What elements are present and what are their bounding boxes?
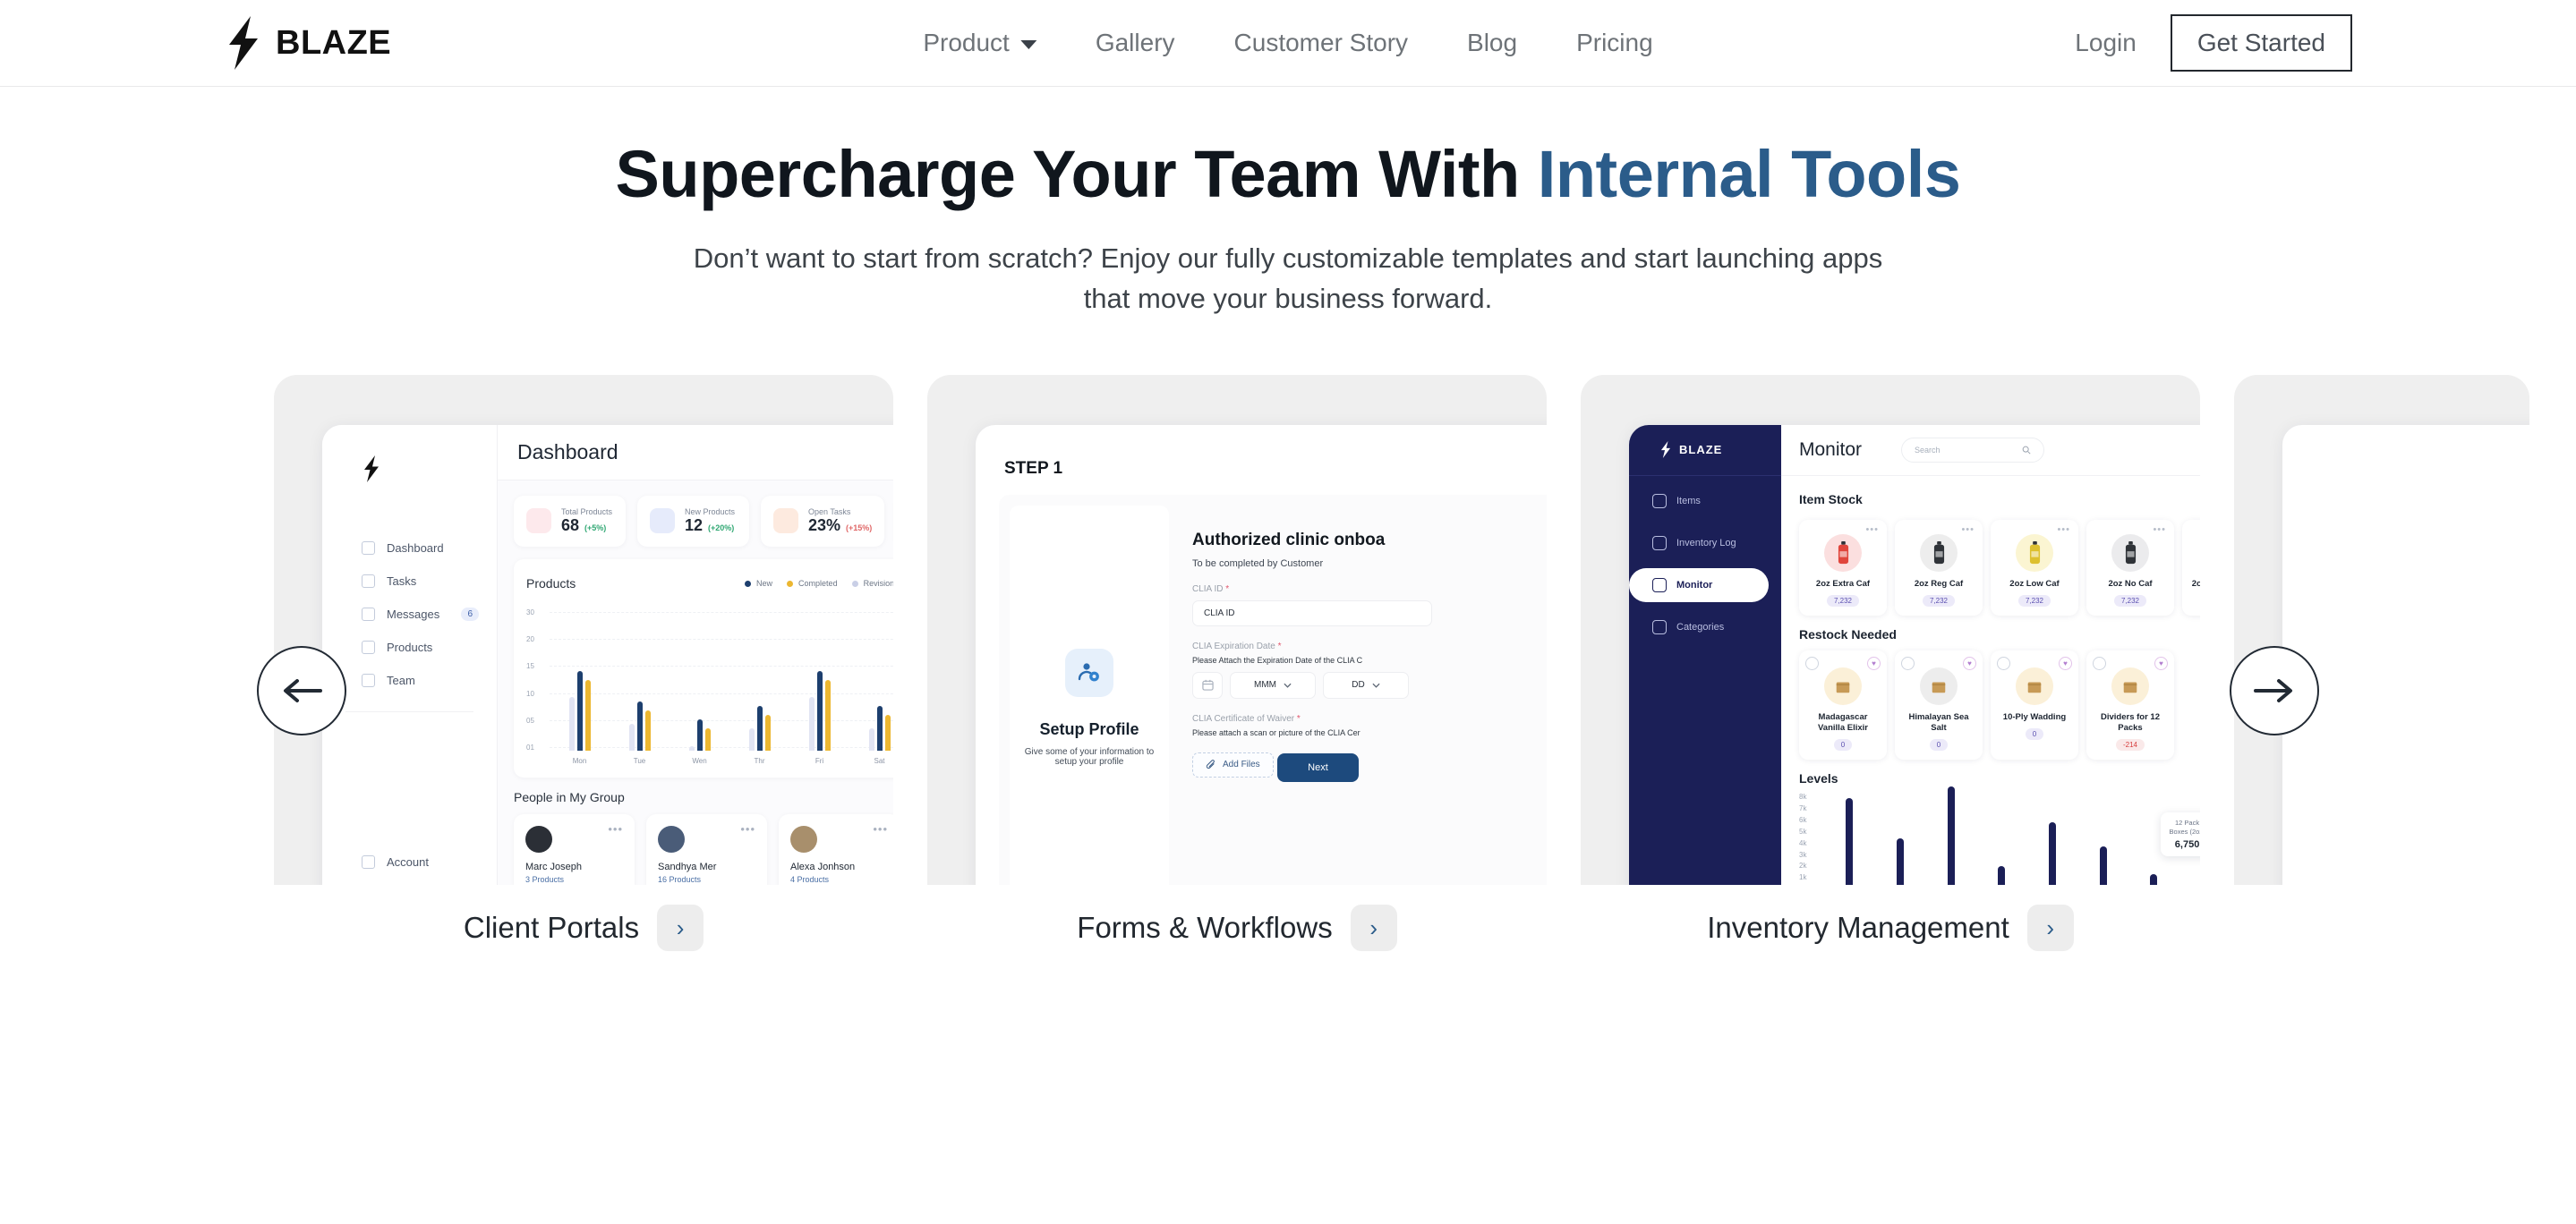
restock-card-row: ♥Madagascar Vanilla Elixir0♥Himalayan Se…: [1799, 650, 2200, 760]
categories-icon: [1652, 620, 1667, 634]
dashboard-main: Dashboard Download Total Products: [498, 425, 893, 885]
item-quantity: 0: [1930, 739, 1948, 751]
profile-setup-icon: [1065, 649, 1113, 697]
bar-group: [550, 608, 610, 751]
nav-item-product-label: Product: [923, 29, 1010, 57]
items-icon: [1652, 494, 1667, 508]
box-icon: [650, 508, 675, 533]
bar: [2150, 874, 2157, 885]
template-carousel: Dashboard Tasks Messages 6: [0, 375, 2576, 983]
x-tick-label: Mon: [550, 757, 610, 765]
bar: [705, 728, 711, 751]
favorite-icon[interactable]: ♥: [1867, 657, 1881, 670]
bar: [749, 728, 755, 751]
bottle-icon: [2028, 541, 2042, 565]
nav-item-gallery[interactable]: Gallery: [1066, 29, 1205, 57]
tooltip-value: 6,750: [2170, 839, 2200, 850]
item-name: 2oz No Caf: [2092, 579, 2169, 590]
item-name: 10-Ply Wadding: [1996, 712, 2073, 723]
chevron-down-icon: [1284, 683, 1292, 688]
bar-group: [1976, 795, 2027, 885]
inventory-main: Monitor Search Item Stock: [1781, 425, 2200, 885]
item-image: [1824, 534, 1862, 572]
stat-delta: (+20%): [708, 523, 734, 532]
legend-item-new: New: [745, 579, 772, 588]
sidebar-item-logout[interactable]: Logout: [322, 879, 497, 885]
sidebar-item-label: Dashboard: [387, 541, 444, 555]
bar: [765, 715, 771, 751]
bar: [869, 728, 874, 751]
item-stock-card[interactable]: •••2oz Extra Caf7,232: [1799, 520, 1887, 616]
sidebar-item-messages[interactable]: Messages 6: [322, 598, 497, 631]
item-quantity: 0: [2026, 728, 2043, 740]
arrow-right-icon: [2254, 676, 2295, 705]
package-icon: [2121, 677, 2139, 695]
monitor-icon: [1652, 578, 1667, 592]
person-card[interactable]: ••• Alexa Jonhson 4 Products 12 Tasks: [779, 814, 893, 885]
item-image: [2016, 534, 2053, 572]
bar: [825, 680, 831, 751]
inventory-brand: BLAZE: [1629, 425, 1781, 476]
item-image: [1920, 534, 1958, 572]
sidebar-item-label: Messages: [387, 608, 439, 621]
stat-label: New Products: [685, 507, 735, 516]
item-stock-card[interactable]: •••2oz No Caf7,232: [2086, 520, 2174, 616]
item-stock-section: Item Stock 2oz Bottles •••2oz Extra Caf7…: [1781, 476, 2200, 616]
bar-group-container: [550, 608, 893, 751]
levels-bar-chart: 8k7k6k5k4k3k2k1k0-1kVLINED-9732oz ExtraC…: [1799, 795, 2200, 885]
hero-section: Supercharge Your Team With Internal Tool…: [0, 87, 2576, 319]
messages-badge: 6: [461, 608, 479, 621]
sidebar-item-dashboard[interactable]: Dashboard: [322, 531, 497, 565]
log-icon: [1652, 536, 1667, 550]
carousel-prev-button[interactable]: [257, 646, 346, 735]
package-icon: [1930, 677, 1948, 695]
y-tick-label: 5k: [1799, 828, 1806, 836]
people-section: People in My Group ••• Marc Joseph 3 Pro…: [498, 778, 893, 885]
legend-item-revision: Revision: [852, 579, 893, 588]
carousel-card-client-portals[interactable]: Dashboard Tasks Messages 6: [274, 375, 893, 983]
bar: [817, 671, 823, 751]
package-icon: [2026, 677, 2043, 695]
item-name: 2oz Reg Caf: [1900, 579, 1977, 590]
search-placeholder: Search: [1915, 446, 1941, 455]
sidebar-divider: [345, 711, 473, 712]
setup-profile-title: Setup Profile: [1039, 720, 1139, 739]
more-options-icon[interactable]: •••: [873, 826, 888, 833]
card-caption: Client Portals ›: [274, 905, 893, 951]
people-row: ••• Marc Joseph 3 Products 10 Tasks •••: [514, 814, 893, 885]
person-products: 3 Products: [525, 875, 623, 884]
chart-legend: New Completed Revision: [745, 579, 893, 588]
bar: [2049, 822, 2056, 885]
card-caption: Inventory Management ›: [1581, 905, 2200, 951]
bottle-icon: [1932, 541, 1946, 565]
screenshot-inventory: BLAZE Items Inventory Log Monitor Catego…: [1581, 375, 2200, 885]
file-icon: [526, 508, 551, 533]
item-stock-card[interactable]: •••2oz Delta Bottles7,232: [2182, 520, 2200, 616]
legend-item-completed: Completed: [787, 579, 838, 588]
clipboard-icon: [773, 508, 798, 533]
inventory-sidebar: BLAZE Items Inventory Log Monitor Catego…: [1629, 425, 1781, 885]
y-tick-label: 7k: [1799, 804, 1806, 812]
item-stock-card[interactable]: •••2oz Low Caf7,232: [1991, 520, 2078, 616]
dashboard-sidebar: Dashboard Tasks Messages 6: [322, 425, 498, 885]
more-options-icon[interactable]: •••: [1900, 528, 1977, 533]
item-quantity: 7,232: [1923, 595, 1955, 607]
user-gear-icon: [1076, 659, 1103, 686]
bar-group: [2027, 795, 2078, 885]
search-icon: [2022, 446, 2031, 455]
nav-item-pricing[interactable]: Pricing: [1547, 29, 1683, 57]
bar: [569, 697, 575, 751]
field-label-clia-waiver: CLIA Certificate of Waiver *: [1192, 714, 1547, 724]
paperclip-icon: [1206, 760, 1216, 770]
form-panel: Setup Profile Give some of your informat…: [999, 495, 1547, 885]
dashboard-body: Products New Completed Revision Export: [498, 547, 893, 778]
hero-subtitle: Don’t want to start from scratch? Enjoy …: [0, 239, 2576, 319]
y-tick-label: 8k: [1799, 793, 1806, 801]
bar: [629, 724, 635, 751]
item-stock-card-row: •••2oz Extra Caf7,232•••2oz Reg Caf7,232…: [1799, 520, 2200, 616]
get-started-button[interactable]: Get Started: [2171, 14, 2352, 72]
sidebar-item-tasks[interactable]: Tasks: [322, 565, 497, 598]
more-options-icon[interactable]: •••: [2092, 528, 2169, 533]
arrow-left-icon: [281, 676, 322, 705]
x-tick-label: Fri: [789, 757, 849, 765]
inventory-app: BLAZE Items Inventory Log Monitor Catego…: [1629, 425, 2200, 885]
sidebar-item-categories[interactable]: Categories: [1629, 610, 1781, 644]
bar-group: [1875, 795, 1926, 885]
lightning-bolt-icon: [1659, 441, 1672, 458]
card-caption: Forms & Workflows ›: [927, 905, 1547, 951]
restock-card[interactable]: ♥Madagascar Vanilla Elixir0: [1799, 650, 1887, 760]
form-left-pane: Setup Profile Give some of your informat…: [1010, 506, 1169, 885]
item-name: 2oz Delta Bottles: [2188, 579, 2200, 590]
restock-section: Restock Needed ♥Madagascar Vanilla Elixi…: [1781, 616, 2200, 760]
person-name: Alexa Jonhson: [790, 862, 888, 872]
sidebar-item-account[interactable]: Account: [322, 846, 497, 879]
stat-label: Open Tasks: [808, 507, 872, 516]
primary-nav: Product Gallery Customer Story Blog Pric…: [893, 29, 1682, 57]
calendar-icon: [1202, 679, 1214, 691]
nav-item-product[interactable]: Product: [893, 29, 1066, 57]
chart-tooltip: 12 PackBoxes (2oz)6,750: [2161, 812, 2200, 856]
bottle-icon: [2124, 541, 2137, 565]
required-asterisk: *: [1278, 642, 1282, 651]
y-tick-label: 30: [526, 608, 534, 616]
stat-delta: (+15%): [846, 523, 872, 532]
item-quantity: 7,232: [1827, 595, 1859, 607]
header-actions: Login Get Started: [2041, 14, 2352, 72]
bar: [1846, 798, 1853, 885]
item-quantity: -214: [2116, 739, 2145, 751]
nav-item-blog[interactable]: Blog: [1437, 29, 1547, 57]
bar: [2100, 846, 2107, 885]
inventory-brand-text: BLAZE: [1679, 443, 1722, 456]
y-tick-label: 05: [526, 717, 534, 725]
dashboard-app: Dashboard Tasks Messages 6: [322, 425, 893, 885]
peek-app: [2282, 425, 2529, 885]
chart-title: Products: [526, 576, 576, 591]
item-image: [1824, 667, 1862, 705]
package-icon: [1834, 677, 1852, 695]
y-tick-label: 1k: [1799, 873, 1806, 881]
person-name: Marc Joseph: [525, 862, 623, 872]
favorite-icon[interactable]: ♥: [2059, 657, 2072, 670]
person-card[interactable]: ••• Sandhya Mer 16 Products 23 Tasks: [646, 814, 767, 885]
x-tick-label: Thr: [729, 757, 789, 765]
bar: [637, 701, 643, 751]
tasks-icon: [362, 574, 375, 588]
card-caption-label: Forms & Workflows: [1077, 911, 1332, 945]
lightning-bolt-icon: [362, 455, 381, 482]
item-quantity: 7,232: [2018, 595, 2051, 607]
nav-item-customer-story[interactable]: Customer Story: [1205, 29, 1438, 57]
required-asterisk: *: [1297, 714, 1301, 724]
sidebar-item-team[interactable]: Team: [322, 664, 497, 697]
products-icon: [362, 641, 375, 654]
levels-title: Levels: [1799, 771, 2200, 786]
brand-logo[interactable]: BLAZE: [224, 16, 391, 70]
edit-icon[interactable]: [1901, 657, 1915, 670]
item-name: 2oz Extra Caf: [1804, 579, 1881, 590]
person-products: 4 Products: [790, 875, 888, 884]
sidebar-item-label: Account: [387, 855, 429, 869]
item-image: [2111, 534, 2149, 572]
more-options-icon[interactable]: •••: [1804, 528, 1881, 533]
products-bar-chart: 302015100501MonTueWenThrFriSatSun: [526, 608, 893, 765]
stat-card-row: Total Products 68(+5%) New Products 12(+…: [498, 480, 893, 547]
item-stock-title: Item Stock: [1799, 492, 1863, 506]
item-stock-card[interactable]: •••2oz Reg Caf7,232: [1895, 520, 1983, 616]
date-picker-row: MMM DD: [1192, 672, 1547, 699]
search-input[interactable]: Search: [1901, 438, 2044, 463]
inventory-topbar: Monitor Search: [1781, 425, 2200, 476]
products-chart-card: Products New Completed Revision Export: [514, 559, 893, 778]
y-tick-label: 01: [526, 744, 534, 752]
y-tick-label: 4k: [1799, 839, 1806, 847]
stat-card: New Products 12(+20%): [637, 496, 749, 547]
more-options-icon[interactable]: •••: [2188, 528, 2200, 533]
sidebar-item-label: Tasks: [387, 574, 416, 588]
message-icon: [362, 608, 375, 621]
bar: [585, 680, 591, 751]
x-axis-labels: MonTueWenThrFriSatSun: [550, 757, 893, 765]
item-image: [1920, 667, 1958, 705]
page-title: Supercharge Your Team With Internal Tool…: [0, 136, 2576, 212]
item-name: Madagascar Vanilla Elixir: [1804, 712, 1881, 734]
lightning-bolt-icon: [224, 16, 263, 70]
dashboard-title: Dashboard: [517, 440, 618, 464]
y-tick-label: 2k: [1799, 862, 1806, 870]
chevron-down-icon: [1020, 40, 1036, 49]
bar-group: [610, 608, 670, 751]
dashboard-sidebar-footer: Account Logout: [322, 846, 497, 885]
bar: [577, 671, 583, 751]
stat-value: 68: [561, 516, 579, 535]
bar-group: [670, 608, 729, 751]
add-files-button[interactable]: Add Files: [1192, 752, 1274, 778]
clia-id-input[interactable]: CLIA ID: [1192, 600, 1432, 626]
more-options-icon[interactable]: •••: [740, 826, 755, 833]
required-asterisk: *: [1225, 584, 1229, 594]
levels-section: Levels 8k7k6k5k4k3k2k1k0-1kVLINED-9732oz…: [1781, 760, 2200, 885]
y-tick-label: 6k: [1799, 816, 1806, 824]
bar: [1998, 866, 2005, 885]
y-tick-label: 10: [526, 690, 534, 698]
logo-text: BLAZE: [276, 24, 391, 63]
x-tick-label: Wen: [670, 757, 729, 765]
inventory-title: Monitor: [1799, 439, 1862, 461]
item-name: Himalayan Sea Salt: [1900, 712, 1977, 734]
login-link[interactable]: Login: [2041, 29, 2171, 57]
step-label: STEP 1: [976, 425, 1547, 479]
carousel-track[interactable]: Dashboard Tasks Messages 6: [0, 375, 2576, 983]
bar-group: [1925, 795, 1976, 885]
x-tick-label: Sat: [849, 757, 893, 765]
user-icon: [362, 855, 375, 869]
chart-header: Products New Completed Revision Export: [526, 572, 893, 596]
people-title: People in My Group: [514, 790, 893, 804]
person-name: Sandhya Mer: [658, 862, 755, 872]
edit-icon[interactable]: [1997, 657, 2010, 670]
sidebar-item-label: Products: [387, 641, 432, 654]
card-caption-label: Inventory Management: [1707, 911, 2009, 945]
more-options-icon[interactable]: •••: [1996, 528, 2073, 533]
carousel-next-button[interactable]: [2230, 646, 2319, 735]
bar: [645, 710, 651, 751]
edit-icon[interactable]: [2093, 657, 2106, 670]
y-tick-label: 15: [526, 662, 534, 670]
headline-text: Supercharge Your Team With: [616, 137, 1538, 211]
sidebar-item-label: Team: [387, 674, 415, 687]
chevron-down-icon: [1372, 683, 1380, 688]
form-app: STEP 1: [976, 425, 1547, 885]
more-options-icon[interactable]: •••: [608, 826, 623, 833]
bar-group: [849, 608, 893, 751]
stat-value: 23%: [808, 516, 840, 535]
bar: [809, 697, 815, 751]
bar: [697, 719, 703, 751]
hero-subtitle-line1: Don’t want to start from scratch? Enjoy …: [0, 239, 2576, 279]
carousel-card-forms-workflows[interactable]: STEP 1: [927, 375, 1547, 983]
sidebar-item-monitor[interactable]: Monitor: [1629, 568, 1769, 602]
bar-group: [789, 608, 849, 751]
bar: [689, 746, 695, 751]
bottle-icon: [1837, 541, 1850, 565]
restock-card[interactable]: ♥Himalayan Sea Salt0: [1895, 650, 1983, 760]
person-card[interactable]: ••• Marc Joseph 3 Products 10 Tasks: [514, 814, 635, 885]
stat-card: Total Products 68(+5%): [514, 496, 626, 547]
carousel-card-inventory-management[interactable]: BLAZE Items Inventory Log Monitor Catego…: [1581, 375, 2200, 983]
card-caption-label: Client Portals: [464, 911, 639, 945]
site-header: BLAZE Product Gallery Customer Story Blo…: [0, 0, 2576, 87]
y-tick-label: 3k: [1799, 851, 1806, 859]
item-image: [2016, 667, 2053, 705]
avatar: [790, 826, 817, 853]
x-tick-label: Tue: [610, 757, 670, 765]
item-name: 2oz Low Caf: [1996, 579, 2073, 590]
bar: [1948, 786, 1955, 885]
screenshot-peek: [2234, 375, 2529, 885]
stat-label: Total Products: [561, 507, 612, 516]
restock-title: Restock Needed: [1799, 627, 2200, 642]
avatar: [525, 826, 552, 853]
field-label-clia-id: CLIA ID *: [1192, 584, 1547, 594]
bar: [757, 706, 763, 751]
restock-card[interactable]: ♥10-Ply Wadding0: [1991, 650, 2078, 760]
dashboard-nav-list: Dashboard Tasks Messages 6: [322, 531, 497, 712]
setup-profile-subtitle: Give some of your information to setup y…: [1022, 747, 1156, 767]
field-label-clia-expiration: CLIA Expiration Date *: [1192, 642, 1547, 651]
stat-delta: (+5%): [584, 523, 606, 532]
team-icon: [362, 674, 375, 687]
bar: [1897, 838, 1904, 885]
hero-subtitle-line2: that move your business forward.: [0, 279, 2576, 319]
next-button[interactable]: Next: [1277, 753, 1359, 782]
home-icon: [362, 541, 375, 555]
stat-card: Open Tasks 23%(+15%): [761, 496, 884, 547]
bar: [885, 715, 891, 751]
tooltip-label: 12 PackBoxes (2oz): [2170, 819, 2200, 837]
card-chevron-button[interactable]: ›: [1351, 905, 1397, 951]
bar-group: [729, 608, 789, 751]
form-note: To be completed by Customer: [1192, 558, 1547, 569]
favorite-icon[interactable]: ♥: [1963, 657, 1976, 670]
bar: [877, 706, 883, 751]
field-help-clia-expiration: Please Attach the Expiration Date of the…: [1192, 656, 1547, 665]
item-name: Dividers for 12 Packs: [2092, 712, 2169, 734]
field-help-clia-waiver: Please attach a scan or picture of the C…: [1192, 728, 1547, 737]
item-quantity: 0: [1834, 739, 1852, 751]
edit-icon[interactable]: [1805, 657, 1819, 670]
screenshot-dashboard: Dashboard Tasks Messages 6: [274, 375, 893, 885]
bar-group: [1824, 795, 1875, 885]
form-right-pane: Authorized clinic onboa To be completed …: [1169, 506, 1547, 885]
stat-value: 12: [685, 516, 703, 535]
month-select[interactable]: MMM: [1230, 672, 1316, 699]
card-chevron-button[interactable]: ›: [2027, 905, 2074, 951]
sidebar-item-items[interactable]: Items: [1629, 484, 1781, 518]
y-tick-label: 20: [526, 635, 534, 643]
restock-card[interactable]: ♥Dividers for 12 Packs-214: [2086, 650, 2174, 760]
screenshot-form: STEP 1: [927, 375, 1547, 885]
day-select[interactable]: DD: [1323, 672, 1409, 699]
bar-group: [2077, 795, 2128, 885]
card-chevron-button[interactable]: ›: [657, 905, 704, 951]
bar-container: [1824, 795, 2200, 885]
sidebar-item-products[interactable]: Products: [322, 631, 497, 664]
favorite-icon[interactable]: ♥: [2154, 657, 2168, 670]
sidebar-item-inventory-log[interactable]: Inventory Log: [1629, 526, 1781, 560]
headline-accent: Internal Tools: [1538, 137, 1961, 211]
person-products: 16 Products: [658, 875, 755, 884]
calendar-button[interactable]: [1192, 672, 1223, 699]
item-quantity: 7,232: [2114, 595, 2146, 607]
item-image: [2111, 667, 2149, 705]
avatar: [658, 826, 685, 853]
dashboard-topbar: Dashboard Download: [498, 425, 893, 480]
form-title: Authorized clinic onboa: [1192, 531, 1547, 550]
